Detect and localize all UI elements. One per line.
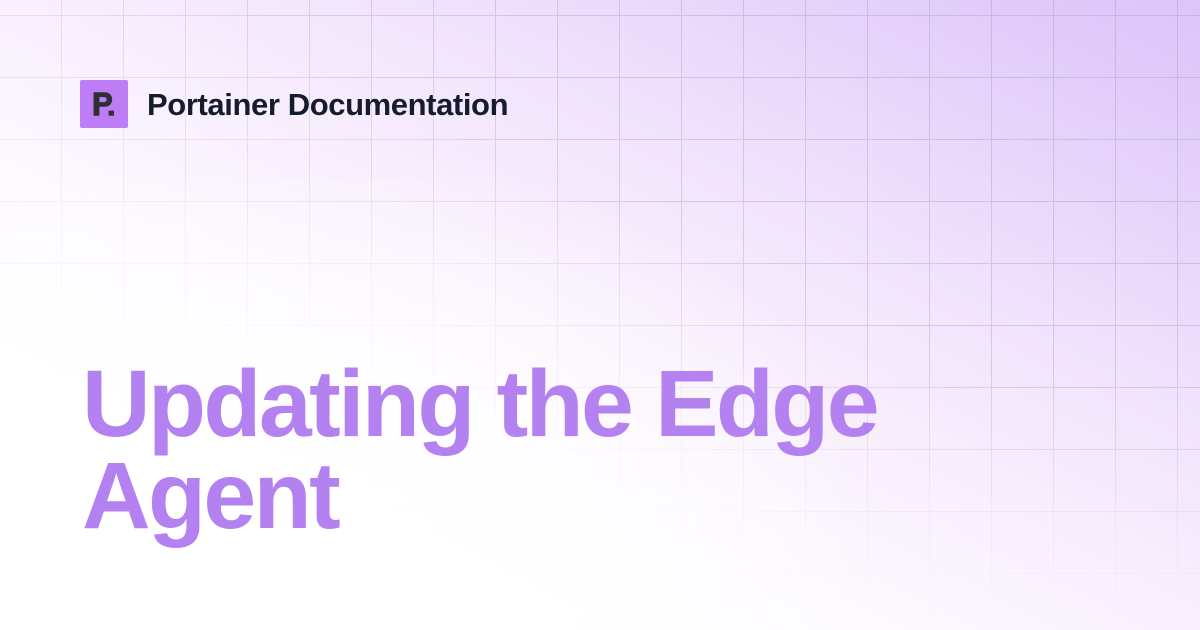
brand-title: Portainer Documentation	[147, 89, 508, 120]
portainer-p-logo-icon	[80, 80, 128, 128]
brand-lockup: Portainer Documentation	[80, 80, 508, 128]
page-title: Updating the Edge Agent	[82, 358, 942, 542]
og-card: Portainer Documentation Updating the Edg…	[0, 0, 1200, 630]
